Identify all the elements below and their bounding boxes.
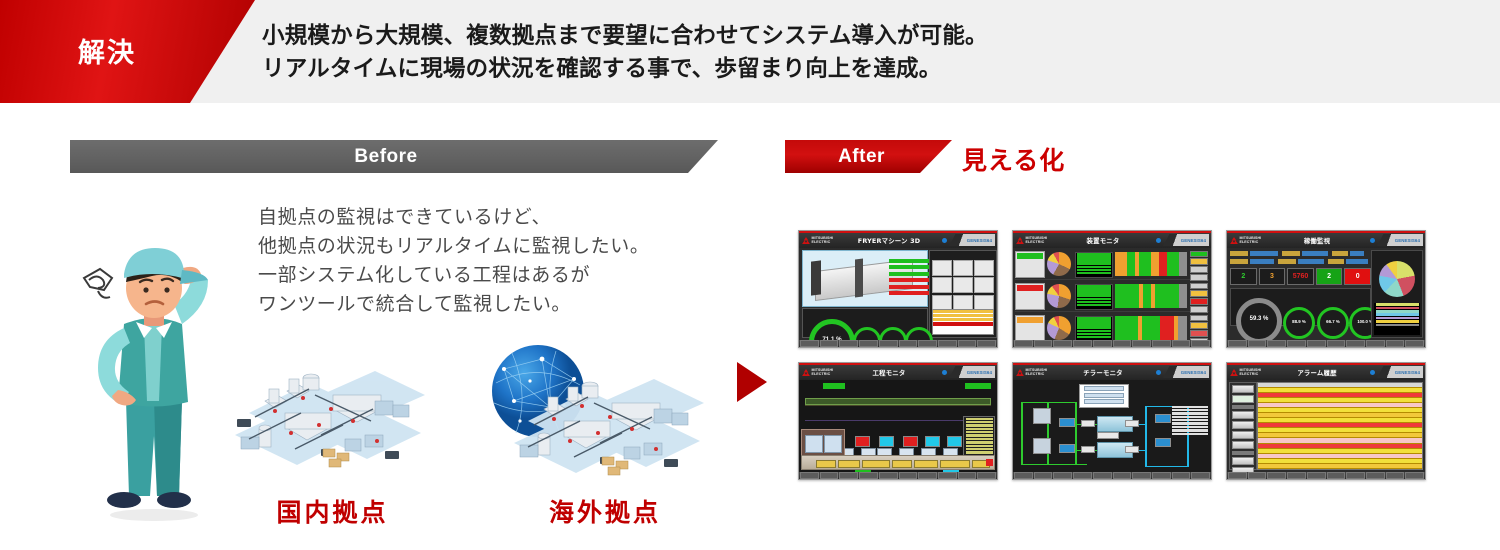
toolbar-button[interactable] bbox=[1014, 472, 1033, 479]
cooling-tower bbox=[1033, 438, 1051, 454]
equipment-button-group[interactable] bbox=[1190, 283, 1208, 315]
globe-network-icon bbox=[490, 345, 720, 490]
alarm-row bbox=[933, 318, 993, 322]
header-banner: 解決 小規模から大規模、複数拠点まで要望に合わせてシステム導入が可能。 リアルタ… bbox=[0, 0, 1500, 103]
process-station bbox=[947, 436, 962, 447]
product-label: GENESIS64 bbox=[1181, 370, 1206, 375]
toolbar-button[interactable] bbox=[958, 472, 977, 479]
toolbar-button[interactable] bbox=[879, 340, 898, 347]
monitor-titlebar: MITSUBISHI ELECTRIC チラーモニタ GENESIS64 bbox=[1013, 365, 1211, 380]
kpi-value: 2 bbox=[1230, 268, 1257, 285]
pipe-cyan bbox=[1145, 466, 1189, 468]
toolbar-button[interactable] bbox=[1346, 340, 1365, 347]
equipment-gantt bbox=[1115, 252, 1187, 276]
before-bar-label: Before bbox=[354, 146, 417, 168]
equipment-card bbox=[1015, 315, 1045, 342]
site-overseas: 海外拠点 bbox=[490, 345, 720, 525]
monitor-title: 工程モニタ bbox=[836, 368, 942, 377]
monitor-toolbar[interactable] bbox=[1013, 472, 1211, 479]
chiller-piping-diagram bbox=[1013, 380, 1211, 473]
status-dot-icon bbox=[1370, 370, 1375, 375]
status-dot-icon bbox=[942, 238, 947, 243]
before-section-bar: Before bbox=[70, 140, 718, 173]
monitor-toolbar[interactable] bbox=[1013, 340, 1211, 347]
status-tile-grid bbox=[932, 260, 994, 311]
process-inset-view bbox=[801, 429, 845, 456]
right-triangle-arrow-icon bbox=[737, 362, 767, 402]
equipment-button[interactable] bbox=[1190, 251, 1208, 258]
toolbar-button[interactable] bbox=[1034, 472, 1053, 479]
toolbar-button[interactable] bbox=[839, 340, 858, 347]
mitsubishi-logo-icon: MITSUBISHI ELECTRIC bbox=[1016, 368, 1050, 377]
filter-button[interactable] bbox=[1232, 441, 1254, 449]
brand-label: MITSUBISHI ELECTRIC bbox=[1240, 236, 1265, 245]
pump bbox=[1059, 418, 1075, 427]
cooling-tower bbox=[1033, 408, 1051, 424]
toolbar-button[interactable] bbox=[1113, 472, 1132, 479]
mitsubishi-logo-icon: MITSUBISHI ELECTRIC bbox=[802, 236, 836, 245]
oee-gauge-3-value: 66.7 % bbox=[1320, 319, 1346, 324]
toolbar-button[interactable] bbox=[1053, 472, 1072, 479]
monitor-screenshot-process[interactable]: MITSUBISHI ELECTRIC 工程モニタ GENESIS64 bbox=[798, 362, 998, 480]
value-tag bbox=[1097, 432, 1119, 439]
toolbar-button[interactable] bbox=[1287, 340, 1306, 347]
status-dot-icon bbox=[942, 370, 947, 375]
value-tag bbox=[1081, 420, 1095, 427]
equipment-log-list bbox=[1075, 316, 1113, 342]
monitor-content bbox=[1013, 248, 1211, 341]
toolbar-button[interactable] bbox=[1386, 340, 1405, 347]
monitor-screenshot-equipment[interactable]: MITSUBISHI ELECTRIC 装置モニタ GENESIS64 bbox=[1012, 230, 1212, 348]
oee-gauge-1-value: 59.3 % bbox=[1241, 316, 1277, 322]
after-monitor-gallery: MITSUBISHI ELECTRIC FRYERマシーン 3D GENESIS… bbox=[798, 230, 1438, 486]
toolbar-button[interactable] bbox=[1287, 472, 1306, 479]
toolbar-button[interactable] bbox=[1267, 340, 1286, 347]
monitor-screenshot-operation[interactable]: MITSUBISHI ELECTRIC 稼働監視 GENESIS64 bbox=[1226, 230, 1426, 348]
monitor-toolbar[interactable] bbox=[1227, 472, 1425, 479]
site-overseas-label: 海外拠点 bbox=[490, 493, 720, 529]
after-bar-label: After bbox=[838, 146, 885, 168]
monitor-screenshot-fryer-3d[interactable]: MITSUBISHI ELECTRIC FRYERマシーン 3D GENESIS… bbox=[798, 230, 998, 348]
pipe-green bbox=[1021, 402, 1077, 404]
machine-tag-list bbox=[889, 259, 929, 298]
equipment-pie-chart bbox=[1047, 316, 1071, 340]
equipment-log-list bbox=[1075, 284, 1113, 310]
machine-part-mid bbox=[855, 258, 863, 297]
mitsubishi-logo-icon: MITSUBISHI ELECTRIC bbox=[1230, 368, 1264, 377]
alarm-filter-sidebar[interactable] bbox=[1229, 382, 1257, 471]
oee-panel: 71.1 % bbox=[802, 308, 928, 339]
toolbar-button[interactable] bbox=[1053, 340, 1072, 347]
tag-alarm bbox=[889, 285, 929, 289]
divider bbox=[1232, 405, 1254, 409]
equipment-state bbox=[1017, 317, 1043, 323]
pipe-cyan bbox=[1145, 406, 1147, 466]
process-station bbox=[903, 436, 918, 447]
filter-button[interactable] bbox=[1232, 421, 1254, 429]
oee-gauge-2: 88.9 % bbox=[1283, 307, 1315, 339]
mitsubishi-logo-icon: MITSUBISHI ELECTRIC bbox=[802, 368, 836, 377]
kpi-value: 0 bbox=[1344, 268, 1371, 285]
tag-ok bbox=[889, 272, 929, 276]
brand-label: MITSUBISHI ELECTRIC bbox=[1240, 368, 1265, 377]
toolbar-button[interactable] bbox=[1228, 340, 1247, 347]
equipment-gantt bbox=[1115, 316, 1187, 340]
status-tile bbox=[953, 277, 973, 293]
equipment-button-group[interactable] bbox=[1190, 251, 1208, 283]
before-pain-line-4: ワンツールで統合して監視したい。 bbox=[258, 290, 649, 319]
toolbar-button[interactable] bbox=[1248, 340, 1267, 347]
genesis-logo: GENESIS64 bbox=[1163, 366, 1209, 378]
brand-label: MITSUBISHI ELECTRIC bbox=[1026, 236, 1051, 245]
equipment-button[interactable] bbox=[1190, 266, 1208, 273]
oee-gauge-3: 66.7 % bbox=[1317, 307, 1349, 339]
toolbar-button[interactable] bbox=[1191, 472, 1210, 479]
equipment-button[interactable] bbox=[1190, 315, 1208, 322]
solution-badge: 解決 bbox=[0, 0, 255, 103]
toolbar-button[interactable] bbox=[1093, 340, 1112, 347]
status-tile bbox=[974, 277, 994, 293]
chiller-legend bbox=[1079, 384, 1129, 408]
status-panel bbox=[929, 250, 997, 339]
equipment-row bbox=[1015, 280, 1209, 312]
toolbar-button[interactable] bbox=[1073, 340, 1092, 347]
tag-ok bbox=[889, 259, 929, 263]
toolbar-button[interactable] bbox=[1191, 340, 1210, 347]
loss-pareto-panel bbox=[1371, 250, 1423, 339]
toolbar-button[interactable] bbox=[1248, 472, 1267, 479]
process-station bbox=[879, 436, 894, 447]
toolbar-button[interactable] bbox=[1405, 340, 1424, 347]
equipment-gantt bbox=[1115, 284, 1187, 308]
toolbar-button[interactable] bbox=[899, 472, 918, 479]
toolbar-button[interactable] bbox=[938, 340, 957, 347]
equipment-state bbox=[1017, 253, 1043, 259]
filter-button[interactable] bbox=[1232, 411, 1254, 419]
table-row[interactable] bbox=[1258, 469, 1422, 470]
monitor-titlebar: MITSUBISHI ELECTRIC 装置モニタ GENESIS64 bbox=[1013, 233, 1211, 248]
equipment-button[interactable] bbox=[1190, 290, 1208, 297]
brand-label: MITSUBISHI ELECTRIC bbox=[812, 236, 837, 245]
toolbar-button[interactable] bbox=[1172, 472, 1191, 479]
status-tile bbox=[953, 260, 973, 276]
after-section-bar: After bbox=[785, 140, 952, 173]
machine-part-left bbox=[811, 260, 821, 295]
gauge-row: 59.3 % 88.9 % 66.7 % 100.0 % bbox=[1230, 288, 1371, 327]
alarm-row bbox=[933, 314, 993, 318]
conveyor-timeline bbox=[801, 455, 995, 470]
toolbar-button[interactable] bbox=[800, 472, 819, 479]
toolbar-button[interactable] bbox=[1113, 340, 1132, 347]
toolbar-button[interactable] bbox=[938, 472, 957, 479]
toolbar-button[interactable] bbox=[1152, 340, 1171, 347]
toolbar-button[interactable] bbox=[859, 472, 878, 479]
header-statement-line-1: 小規模から大規模、複数拠点まで要望に合わせてシステム導入が可能。 bbox=[262, 20, 1422, 53]
monitor-content bbox=[1013, 380, 1211, 473]
monitor-content bbox=[1227, 380, 1425, 473]
toolbar-button[interactable] bbox=[1405, 472, 1424, 479]
equipment-state bbox=[1017, 285, 1043, 291]
toolbar-button[interactable] bbox=[800, 340, 819, 347]
toolbar-button[interactable] bbox=[1014, 340, 1033, 347]
site-domestic: 国内拠点 bbox=[225, 365, 440, 525]
toolbar-button[interactable] bbox=[1366, 340, 1385, 347]
monitor-toolbar[interactable] bbox=[799, 472, 997, 479]
kpi-value: 2 bbox=[1316, 268, 1343, 285]
pump bbox=[1155, 414, 1171, 423]
process-bus bbox=[805, 398, 991, 405]
monitor-content: 2 3 5760 2 0 59.3 % 88.9 % 66.7 % 100.0 … bbox=[1227, 248, 1425, 341]
toolbar-button[interactable] bbox=[1228, 472, 1247, 479]
monitor-title: 稼働監視 bbox=[1264, 236, 1370, 245]
oee-gauge-2-value: 88.9 % bbox=[1286, 319, 1312, 324]
before-pain-line-3: 一部システム化している工程はあるが bbox=[258, 261, 649, 290]
solution-badge-label: 解決 bbox=[78, 31, 136, 70]
toolbar-button[interactable] bbox=[1132, 472, 1151, 479]
after-caption: 見える化 bbox=[962, 141, 1065, 177]
before-pain-points: 自拠点の監視はできているけど、 他拠点の状況もリアルタイムに監視したい。 一部シ… bbox=[258, 203, 649, 319]
toolbar-button[interactable] bbox=[899, 340, 918, 347]
monitor-title: チラーモニタ bbox=[1050, 368, 1156, 377]
kpi-value: 5760 bbox=[1287, 268, 1314, 285]
alarm-history-table[interactable] bbox=[1257, 382, 1423, 471]
product-label: GENESIS64 bbox=[1181, 238, 1206, 243]
monitor-content: 71.1 % bbox=[799, 248, 997, 341]
monitor-title: 装置モニタ bbox=[1050, 236, 1156, 245]
equipment-log-list bbox=[1075, 252, 1113, 278]
equipment-card bbox=[1015, 283, 1045, 310]
mitsubishi-logo-icon: MITSUBISHI ELECTRIC bbox=[1016, 236, 1050, 245]
toolbar-button[interactable] bbox=[1152, 472, 1171, 479]
toolbar-button[interactable] bbox=[1307, 340, 1326, 347]
pipe-green bbox=[1021, 402, 1023, 464]
status-tile bbox=[932, 277, 952, 293]
equipment-row bbox=[1015, 312, 1209, 343]
confused-worker-illustration bbox=[62, 232, 242, 524]
toolbar-button[interactable] bbox=[820, 340, 839, 347]
alarm-row bbox=[933, 310, 993, 314]
factory-isometric-icon bbox=[225, 365, 440, 490]
toolbar-button[interactable] bbox=[1366, 472, 1385, 479]
equipment-button[interactable] bbox=[1190, 298, 1208, 305]
toolbar-button[interactable] bbox=[879, 472, 898, 479]
genesis-logo: GENESIS64 bbox=[1377, 366, 1423, 378]
toolbar-button[interactable] bbox=[1073, 472, 1092, 479]
equipment-button[interactable] bbox=[1190, 322, 1208, 329]
monitor-content bbox=[799, 380, 997, 473]
equipment-button[interactable] bbox=[1190, 283, 1208, 290]
site-domestic-label: 国内拠点 bbox=[225, 493, 440, 529]
genesis-logo: GENESIS64 bbox=[1163, 234, 1209, 246]
monitor-titlebar: MITSUBISHI ELECTRIC FRYERマシーン 3D GENESIS… bbox=[799, 233, 997, 248]
status-dot-icon bbox=[1370, 238, 1375, 243]
genesis-logo: GENESIS64 bbox=[949, 366, 995, 378]
toolbar-button[interactable] bbox=[1327, 340, 1346, 347]
toolbar-button[interactable] bbox=[977, 472, 996, 479]
toolbar-button[interactable] bbox=[1346, 472, 1365, 479]
value-tag bbox=[1081, 446, 1095, 453]
header-statement-line-2: リアルタイムに現場の状況を確認する事で、歩留まり向上を達成。 bbox=[262, 53, 1422, 86]
value-tag bbox=[1125, 446, 1139, 453]
monitor-screenshot-alarm-history[interactable]: MITSUBISHI ELECTRIC アラーム履歴 GENESIS64 bbox=[1226, 362, 1426, 480]
process-station bbox=[925, 436, 940, 447]
alarm-list bbox=[932, 309, 994, 336]
monitor-titlebar: MITSUBISHI ELECTRIC 工程モニタ GENESIS64 bbox=[799, 365, 997, 380]
brand-label: MITSUBISHI ELECTRIC bbox=[1026, 368, 1051, 377]
monitor-toolbar[interactable] bbox=[1227, 340, 1425, 347]
equipment-pie-chart bbox=[1047, 252, 1071, 276]
kpi-row: 2 3 5760 2 0 bbox=[1230, 268, 1371, 285]
filter-button[interactable] bbox=[1232, 431, 1254, 439]
alarm-row bbox=[933, 326, 993, 330]
product-label: GENESIS64 bbox=[1395, 370, 1420, 375]
toolbar-button[interactable] bbox=[859, 340, 878, 347]
mitsubishi-logo-icon: MITSUBISHI ELECTRIC bbox=[1230, 236, 1264, 245]
genesis-logo: GENESIS64 bbox=[1377, 234, 1423, 246]
toolbar-button[interactable] bbox=[918, 340, 937, 347]
production-info-row bbox=[1230, 250, 1371, 266]
equipment-pie-chart bbox=[1047, 284, 1071, 308]
equipment-card bbox=[1015, 251, 1045, 278]
value-tag bbox=[1125, 420, 1139, 427]
genesis-logo: GENESIS64 bbox=[949, 234, 995, 246]
toolbar-button[interactable] bbox=[1327, 472, 1346, 479]
toolbar-button[interactable] bbox=[1093, 472, 1112, 479]
machine-3d-view bbox=[802, 250, 928, 307]
pump bbox=[1059, 444, 1075, 453]
filter-button[interactable] bbox=[1232, 457, 1254, 465]
toolbar-button[interactable] bbox=[958, 340, 977, 347]
loss-pie-chart bbox=[1379, 261, 1415, 297]
monitor-title: アラーム履歴 bbox=[1264, 368, 1370, 377]
status-tile bbox=[932, 260, 952, 276]
tag-alarm bbox=[889, 278, 929, 282]
tag-ok bbox=[889, 265, 929, 269]
toolbar-button[interactable] bbox=[1132, 340, 1151, 347]
kpi-value: 3 bbox=[1259, 268, 1286, 285]
toolbar-button[interactable] bbox=[1307, 472, 1326, 479]
loss-legend-list bbox=[1374, 303, 1420, 336]
pipe-green bbox=[1021, 464, 1087, 466]
monitor-title: FRYERマシーン 3D bbox=[836, 236, 942, 245]
divider bbox=[1232, 451, 1254, 455]
before-pain-line-2: 他拠点の状況もリアルタイムに監視したい。 bbox=[258, 232, 649, 261]
toolbar-button[interactable] bbox=[1034, 340, 1053, 347]
alarm-indicator bbox=[986, 459, 993, 466]
process-run-indicator bbox=[823, 383, 845, 389]
status-tile bbox=[974, 260, 994, 276]
toolbar-button[interactable] bbox=[1172, 340, 1191, 347]
toolbar-button[interactable] bbox=[977, 340, 996, 347]
tag-alarm bbox=[889, 291, 929, 295]
process-run-indicator bbox=[965, 383, 991, 389]
brand-label: MITSUBISHI ELECTRIC bbox=[812, 368, 837, 377]
filter-button[interactable] bbox=[1232, 385, 1254, 393]
equipment-button[interactable] bbox=[1190, 330, 1208, 337]
toolbar-button[interactable] bbox=[1267, 472, 1286, 479]
monitor-titlebar: MITSUBISHI ELECTRIC アラーム履歴 GENESIS64 bbox=[1227, 365, 1425, 380]
oee-gauge-1: 59.3 % bbox=[1236, 298, 1282, 344]
toolbar-button[interactable] bbox=[918, 472, 937, 479]
process-flow-diagram bbox=[799, 380, 997, 473]
monitor-titlebar: MITSUBISHI ELECTRIC 稼働監視 GENESIS64 bbox=[1227, 233, 1425, 248]
header-statement: 小規模から大規模、複数拠点まで要望に合わせてシステム導入が可能。 リアルタイムに… bbox=[262, 20, 1422, 86]
product-label: GENESIS64 bbox=[967, 370, 992, 375]
pump bbox=[1155, 438, 1171, 447]
before-pain-line-1: 自拠点の監視はできているけど、 bbox=[258, 203, 649, 232]
monitor-screenshot-chiller[interactable]: MITSUBISHI ELECTRIC チラーモニタ GENESIS64 bbox=[1012, 362, 1212, 480]
product-label: GENESIS64 bbox=[967, 238, 992, 243]
toolbar-button[interactable] bbox=[839, 472, 858, 479]
equipment-row bbox=[1015, 248, 1209, 280]
monitor-toolbar[interactable] bbox=[799, 340, 997, 347]
process-station bbox=[855, 436, 870, 447]
toolbar-button[interactable] bbox=[1386, 472, 1405, 479]
chiller-data-table bbox=[1172, 406, 1208, 444]
alarm-row bbox=[933, 322, 993, 326]
status-dot-icon bbox=[1156, 238, 1161, 243]
status-dot-icon bbox=[1156, 370, 1161, 375]
product-label: GENESIS64 bbox=[1395, 238, 1420, 243]
equipment-button[interactable] bbox=[1190, 258, 1208, 265]
filter-button[interactable] bbox=[1232, 395, 1254, 403]
toolbar-button[interactable] bbox=[820, 472, 839, 479]
pipe-green bbox=[1075, 402, 1077, 464]
